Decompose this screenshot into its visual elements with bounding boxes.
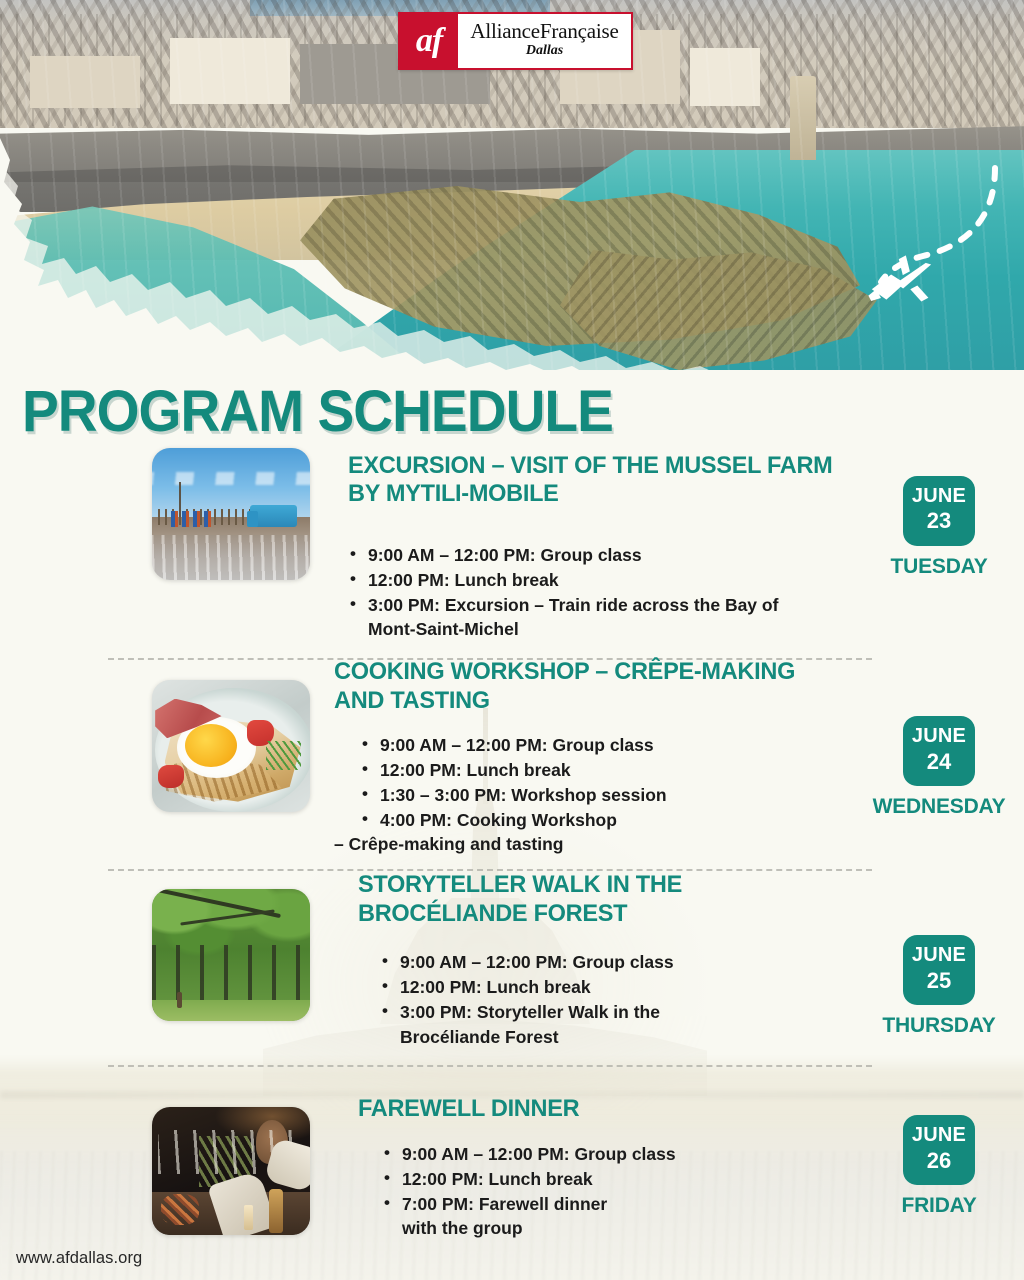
date-weekday: FRIDAY	[901, 1194, 976, 1218]
entry-date: JUNE 25 THURSDAY	[854, 889, 1024, 1038]
date-weekday: THURSDAY	[882, 1014, 995, 1038]
schedule-list: EXCURSION – VISIT OF THE MUSSEL FARM BY …	[0, 448, 1024, 1241]
poster-page: af AllianceFrançaise Dallas PROGRAM SCHE…	[0, 0, 1024, 1280]
crepe-galette-photo	[152, 680, 310, 812]
logo-text-block: AllianceFrançaise Dallas	[458, 14, 631, 68]
date-month: JUNE	[907, 485, 971, 507]
flower-arrangement	[161, 1194, 199, 1225]
schedule-entry: EXCURSION – VISIT OF THE MUSSEL FARM BY …	[0, 448, 1024, 642]
date-badge: JUNE 26	[903, 1115, 975, 1185]
list-item-continuation: – Crêpe-making and tasting	[334, 832, 854, 857]
date-day: 26	[907, 1147, 971, 1176]
entry-bullet-list: 9:00 AM – 12:00 PM: Group class 12:00 PM…	[334, 733, 854, 857]
logo-name: AllianceFrançaise	[470, 20, 618, 42]
farewell-dinner-photo	[152, 1107, 310, 1235]
airplane-icon	[845, 160, 1024, 360]
list-item: 9:00 AM – 12:00 PM: Group class	[360, 733, 854, 758]
date-day: 25	[907, 967, 971, 996]
date-day: 23	[907, 507, 971, 536]
list-item: 9:00 AM – 12:00 PM: Group class	[380, 950, 854, 975]
date-badge: JUNE 24	[903, 716, 975, 786]
date-month: JUNE	[907, 1124, 971, 1146]
entry-title: STORYTELLER WALK IN THE BROCÉLIANDE FORE…	[358, 871, 834, 928]
header-hero-photo: af AllianceFrançaise Dallas	[0, 0, 1024, 370]
mussel-farm-illustration	[152, 448, 310, 580]
entry-title: FAREWELL DINNER	[358, 1095, 834, 1123]
list-item: 7:00 PM: Farewell dinner with the group	[382, 1192, 632, 1242]
logo-city: Dallas	[526, 43, 563, 60]
list-item: 3:00 PM: Storyteller Walk in the Brocéli…	[380, 1000, 720, 1050]
date-day: 24	[907, 748, 971, 777]
entry-bullet-list: 9:00 AM – 12:00 PM: Group class 12:00 PM…	[358, 950, 854, 1049]
alliance-francaise-logo[interactable]: af AllianceFrançaise Dallas	[398, 12, 633, 70]
page-title: PROGRAM SCHEDULE	[22, 378, 613, 445]
wet-sand-reflection	[152, 535, 310, 580]
list-item: 12:00 PM: Lunch break	[360, 758, 854, 783]
broceliande-forest-photo	[152, 889, 310, 1021]
list-item: 12:00 PM: Lunch break	[382, 1167, 854, 1192]
blue-truck	[250, 505, 297, 527]
entry-date: JUNE 24 WEDNESDAY	[854, 680, 1024, 819]
list-item: 1:30 – 3:00 PM: Workshop session	[360, 783, 854, 808]
date-weekday: TUESDAY	[890, 555, 987, 579]
tomato-wedge	[158, 765, 183, 789]
mussel-farm-photo	[152, 448, 310, 580]
candle	[244, 1205, 253, 1231]
clouds	[152, 472, 310, 485]
pole	[179, 482, 181, 516]
schedule-entry: FAREWELL DINNER 9:00 AM – 12:00 PM: Grou…	[0, 1107, 1024, 1241]
plane-graphic-group	[845, 160, 1024, 360]
dashed-flight-trail-icon	[881, 168, 995, 282]
group-of-people	[171, 511, 212, 527]
list-item: 9:00 AM – 12:00 PM: Group class	[348, 543, 854, 568]
list-item: 12:00 PM: Lunch break	[380, 975, 854, 1000]
date-month: JUNE	[907, 944, 971, 966]
entry-date: JUNE 23 TUESDAY	[854, 448, 1024, 579]
list-item: 4:00 PM: Cooking Workshop	[360, 808, 854, 833]
date-badge: JUNE 25	[903, 935, 975, 1005]
entry-title: EXCURSION – VISIT OF THE MUSSEL FARM BY …	[348, 452, 834, 509]
divider	[108, 1065, 872, 1067]
entry-content: FAREWELL DINNER 9:00 AM – 12:00 PM: Grou…	[310, 1107, 854, 1241]
af-monogram-icon: af	[400, 14, 458, 68]
entry-content: STORYTELLER WALK IN THE BROCÉLIANDE FORE…	[310, 889, 854, 1049]
date-weekday: WEDNESDAY	[873, 795, 1006, 819]
list-item: 3:00 PM: Excursion – Train ride across t…	[348, 593, 800, 643]
galette-illustration	[152, 680, 310, 812]
entry-bullet-list: 9:00 AM – 12:00 PM: Group class 12:00 PM…	[358, 1142, 854, 1241]
list-item: 12:00 PM: Lunch break	[348, 568, 854, 593]
entry-content: EXCURSION – VISIT OF THE MUSSEL FARM BY …	[310, 448, 854, 642]
herb-garnish	[266, 741, 301, 770]
entry-bullet-list: 9:00 AM – 12:00 PM: Group class 12:00 PM…	[348, 543, 854, 642]
forest-illustration	[152, 889, 310, 1021]
footer-website-url[interactable]: www.afdallas.org	[16, 1249, 142, 1268]
walking-person	[177, 992, 182, 1008]
entry-content: COOKING WORKSHOP – CRÊPE-MAKING AND TAST…	[310, 680, 854, 857]
schedule-entry: COOKING WORKSHOP – CRÊPE-MAKING AND TAST…	[0, 680, 1024, 857]
forest-floor	[152, 1000, 310, 1021]
date-month: JUNE	[907, 725, 971, 747]
date-badge: JUNE 23	[903, 476, 975, 546]
schedule-entry: STORYTELLER WALK IN THE BROCÉLIANDE FORE…	[0, 889, 1024, 1049]
entry-date: JUNE 26 FRIDAY	[854, 1107, 1024, 1218]
bottle	[269, 1189, 283, 1233]
entry-title: COOKING WORKSHOP – CRÊPE-MAKING AND TAST…	[334, 658, 833, 715]
list-item: 9:00 AM – 12:00 PM: Group class	[382, 1142, 854, 1167]
dinner-toast-illustration	[152, 1107, 310, 1235]
